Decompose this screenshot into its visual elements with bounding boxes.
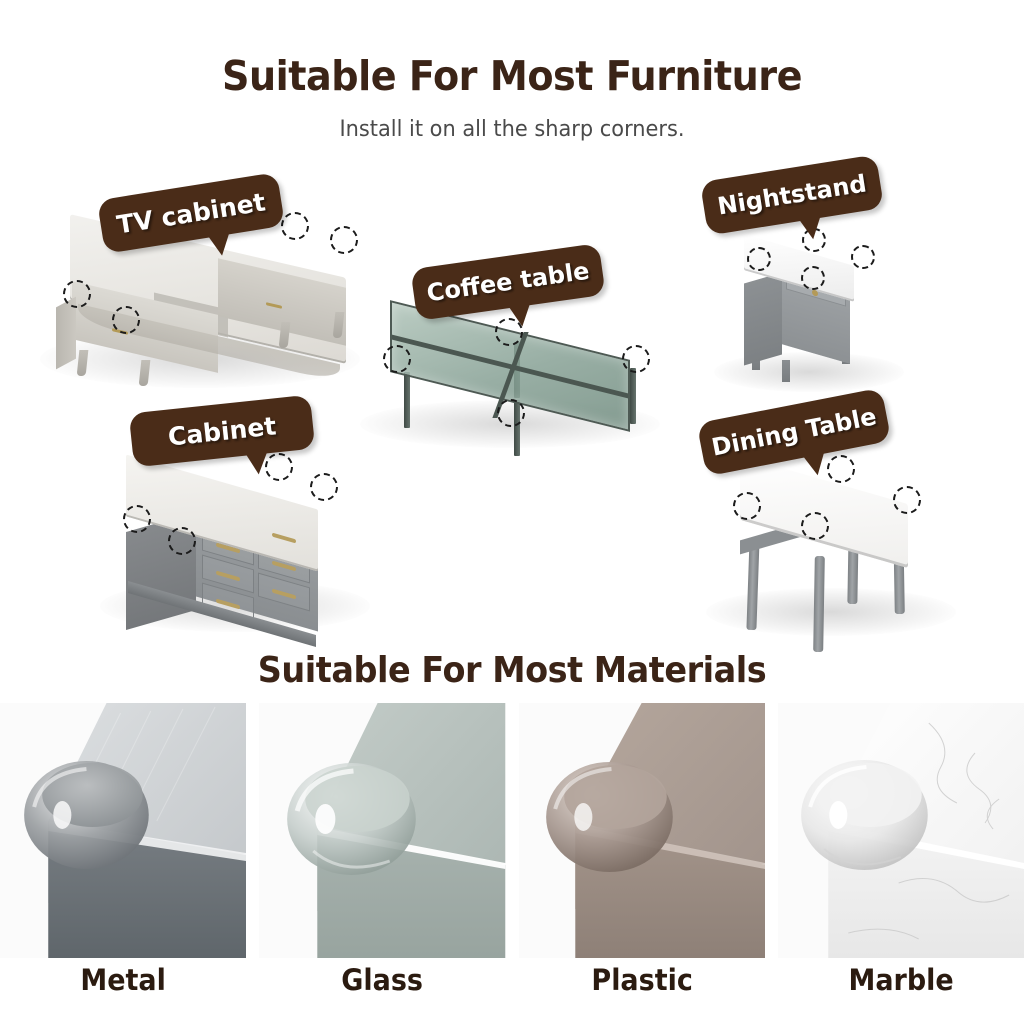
corner-marker-tv-cabinet <box>63 280 91 308</box>
corner-marker-cabinet <box>168 527 196 555</box>
coffee-table-leg <box>630 368 636 424</box>
corner-marker-cabinet <box>123 505 151 533</box>
badge-tail-icon <box>803 452 829 478</box>
corner-marker-dining-table <box>827 455 855 483</box>
label-badge-text: Nightstand <box>716 169 869 220</box>
corner-marker-coffee-table <box>383 345 411 373</box>
plastic-surface-illustration <box>519 703 765 958</box>
corner-marker-nightstand <box>801 266 825 290</box>
materials-section-title: Suitable For Most Materials <box>36 650 988 691</box>
material-label-row: Metal Glass Plastic Marble <box>0 963 1024 1018</box>
corner-marker-nightstand <box>747 247 771 271</box>
badge-tail-icon <box>508 303 533 328</box>
material-label-metal: Metal <box>9 963 238 1018</box>
tv-cabinet-leg <box>77 350 89 376</box>
nightstand-side-panel <box>744 273 782 366</box>
badge-tail-icon <box>208 232 233 257</box>
corner-marker-tv-cabinet <box>281 212 309 240</box>
furniture-section-subtitle: Install it on all the sharp corners. <box>26 117 999 142</box>
corner-marker-dining-table <box>733 492 761 520</box>
coffee-table-leg <box>404 372 410 428</box>
material-panel-glass <box>259 703 505 958</box>
label-badge-coffee-table[interactable]: Coffee table <box>410 243 605 321</box>
material-panel-marble <box>778 703 1024 958</box>
corner-marker-coffee-table <box>497 399 525 427</box>
material-label-marble: Marble <box>786 963 1015 1018</box>
corner-marker-cabinet <box>310 473 338 501</box>
label-badge-text: TV cabinet <box>115 187 268 239</box>
material-panel-plastic <box>519 703 765 958</box>
label-badge-nightstand[interactable]: Nightstand <box>700 154 884 235</box>
material-panel-metal <box>0 703 246 958</box>
corner-marker-coffee-table <box>622 345 650 373</box>
corner-marker-dining-table <box>801 512 829 540</box>
nightstand-leg <box>782 360 790 382</box>
corner-marker-tv-cabinet <box>330 226 358 254</box>
corner-marker-tv-cabinet <box>112 306 140 334</box>
infographic-page: Suitable For Most Furniture Install it o… <box>0 0 1024 1024</box>
corner-marker-nightstand <box>851 245 875 269</box>
material-label-plastic: Plastic <box>527 963 756 1018</box>
materials-panel-row <box>0 703 1024 958</box>
badge-tail-icon <box>245 451 269 475</box>
corner-marker-dining-table <box>893 486 921 514</box>
badge-tail-icon <box>799 216 824 241</box>
marble-surface-illustration <box>778 703 1024 958</box>
furniture-section-title: Suitable For Most Furniture <box>36 52 988 100</box>
label-badge-text: Coffee table <box>425 257 591 308</box>
glass-surface-illustration <box>259 703 505 958</box>
corner-marker-cabinet <box>265 453 293 481</box>
label-badge-text: Dining Table <box>709 402 879 461</box>
metal-surface-illustration <box>0 703 246 958</box>
dining-table-leg <box>813 556 825 652</box>
material-label-glass: Glass <box>268 963 497 1018</box>
label-badge-text: Cabinet <box>167 411 278 451</box>
